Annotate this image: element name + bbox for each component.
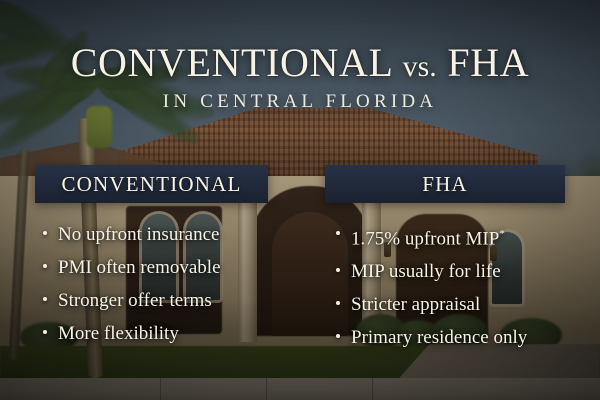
- list-item: PMI often removable: [40, 257, 295, 278]
- bullet-icon: [43, 264, 47, 268]
- column-header-conventional: CONVENTIONAL: [35, 165, 268, 203]
- list-item-text: No upfront insurance: [58, 224, 219, 245]
- bullet-icon: [43, 297, 47, 301]
- list-item: Stronger offer terms: [40, 290, 295, 311]
- list-item-text: Stricter appraisal: [351, 294, 480, 315]
- title-vs: vs.: [403, 50, 437, 83]
- bullet-icon: [336, 301, 340, 305]
- column-header-fha: FHA: [325, 165, 565, 203]
- list-item: No upfront insurance: [40, 224, 295, 245]
- page-subtitle: IN CENTRAL FLORIDA: [0, 90, 600, 114]
- list-item: 1.75% upfront MIP*: [333, 224, 595, 249]
- infographic-card: CONVENTIONAL vs. FHA IN CENTRAL FLORIDA …: [0, 0, 600, 400]
- list-item-text: 1.75% upfront MIP: [351, 228, 499, 249]
- bullet-icon: [43, 231, 47, 235]
- footnote-asterisk: *: [499, 228, 505, 240]
- column-header-label: FHA: [422, 172, 468, 197]
- page-title: CONVENTIONAL vs. FHA: [0, 40, 600, 90]
- bullet-icon: [336, 334, 340, 338]
- list-item-text: Primary residence only: [351, 327, 527, 348]
- bullet-list-conventional: No upfront insurance PMI often removable…: [40, 224, 295, 356]
- bullet-icon: [336, 231, 340, 235]
- column-header-label: CONVENTIONAL: [61, 172, 241, 197]
- bullet-list-fha: 1.75% upfront MIP* MIP usually for life …: [333, 224, 595, 360]
- title-conventional: CONVENTIONAL: [71, 40, 392, 85]
- list-item: Primary residence only: [333, 327, 595, 348]
- list-item-text: PMI often removable: [58, 257, 221, 278]
- list-item-text: Stronger offer terms: [58, 290, 212, 311]
- list-item: More flexibility: [40, 323, 295, 344]
- list-item-text: More flexibility: [58, 323, 179, 344]
- bullet-icon: [336, 268, 340, 272]
- list-item: MIP usually for life: [333, 261, 595, 282]
- list-item: Stricter appraisal: [333, 294, 595, 315]
- title-fha: FHA: [447, 40, 529, 85]
- list-item-text: MIP usually for life: [351, 261, 501, 282]
- bullet-icon: [43, 330, 47, 334]
